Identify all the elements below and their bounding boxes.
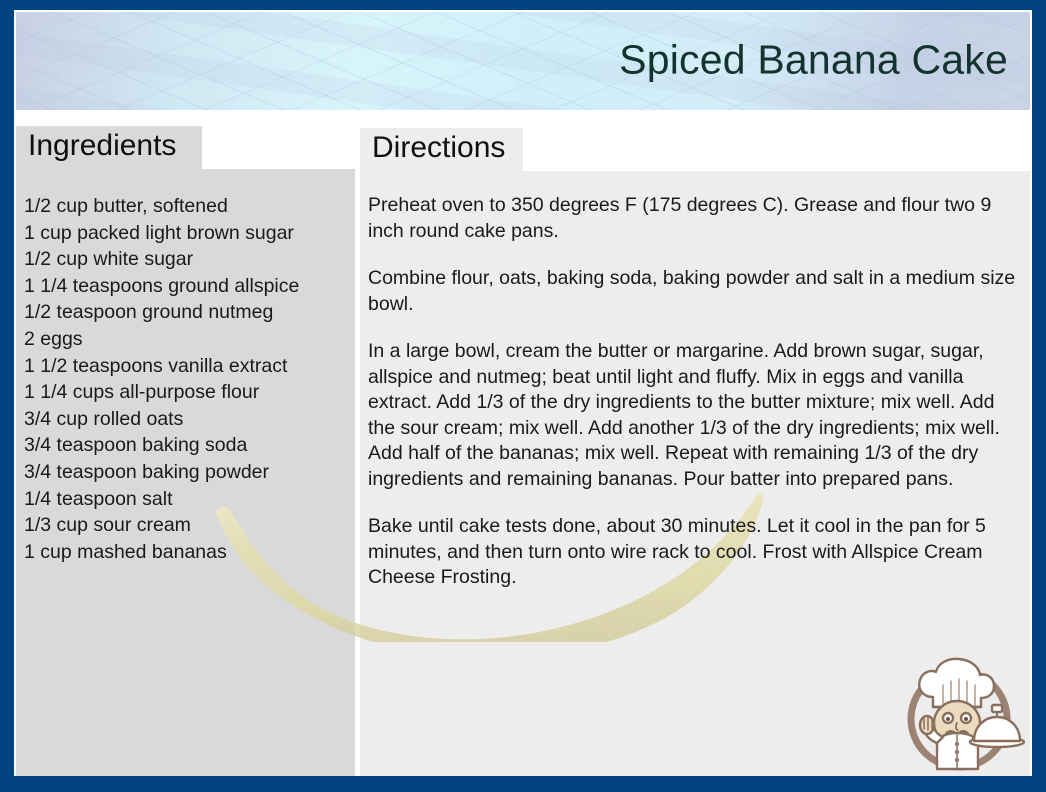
list-item: 1 cup packed light brown sugar [24, 220, 354, 247]
list-item: 3/4 teaspoon baking powder [24, 459, 354, 486]
chef-logo-icon [893, 645, 1025, 777]
directions-heading: Directions [360, 128, 523, 174]
direction-step: Preheat oven to 350 degrees F (175 degre… [368, 193, 1016, 244]
list-item: 1/2 cup butter, softened [24, 193, 354, 220]
list-item: 3/4 cup rolled oats [24, 406, 354, 433]
list-item: 2 eggs [24, 326, 354, 353]
direction-step: In a large bowl, cream the butter or mar… [368, 339, 1016, 492]
list-item: 1 cup mashed bananas [24, 539, 354, 566]
recipe-card: Spiced Banana Cake Ingredients 1/2 cup b… [0, 0, 1046, 792]
page-title: Spiced Banana Cake [619, 37, 1008, 84]
list-item: 1/3 cup sour cream [24, 512, 354, 539]
list-item: 1/2 teaspoon ground nutmeg [24, 299, 354, 326]
list-item: 1 1/4 teaspoons ground allspice [24, 273, 354, 300]
list-item: 1/2 cup white sugar [24, 246, 354, 273]
list-item: 1/4 teaspoon salt [24, 486, 354, 513]
direction-step: Bake until cake tests done, about 30 min… [368, 514, 1016, 591]
title-banner: Spiced Banana Cake [16, 12, 1030, 110]
list-item: 1 1/2 teaspoons vanilla extract [24, 353, 354, 380]
list-item: 1 1/4 cups all-purpose flour [24, 379, 354, 406]
directions-body: Preheat oven to 350 degrees F (175 degre… [368, 193, 1016, 613]
list-item: 3/4 teaspoon baking soda [24, 432, 354, 459]
direction-step: Combine flour, oats, baking soda, baking… [368, 266, 1016, 317]
ingredients-list: 1/2 cup butter, softened 1 cup packed li… [24, 193, 354, 565]
ingredients-heading: Ingredients [16, 126, 202, 172]
